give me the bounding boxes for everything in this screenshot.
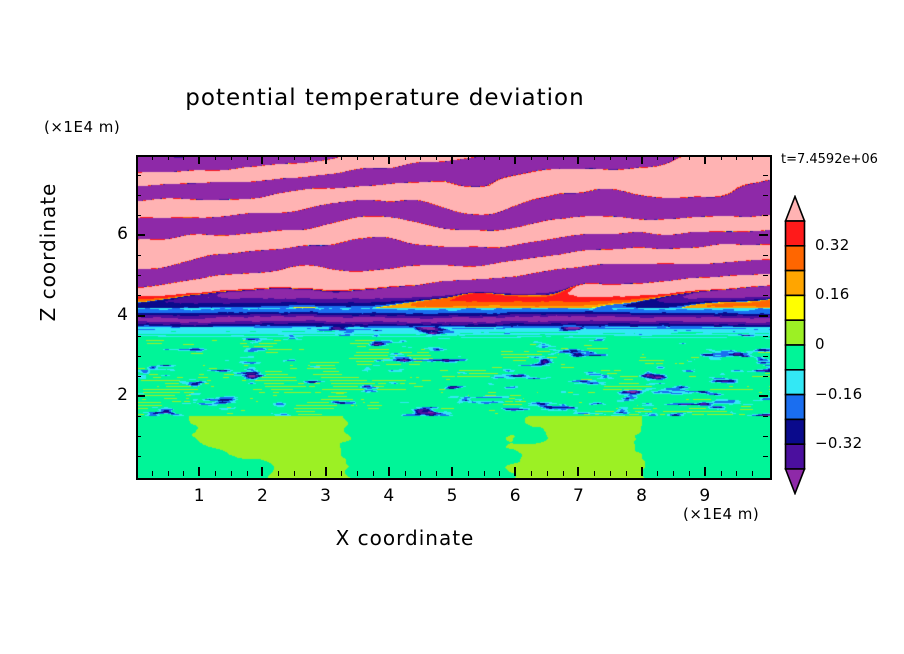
y-tick-minor bbox=[136, 376, 141, 377]
x-tick-major bbox=[198, 467, 200, 476]
x-tick-label: 4 bbox=[374, 486, 404, 506]
x-tick-major bbox=[514, 467, 516, 476]
y-tick-major-right bbox=[759, 315, 768, 317]
x-tick-minor bbox=[547, 471, 548, 476]
x-tick-major-top bbox=[704, 155, 706, 164]
x-tick-minor-top bbox=[736, 155, 737, 160]
y-tick-minor bbox=[136, 215, 141, 216]
x-tick-minor bbox=[673, 471, 674, 476]
colorbar-under-arrow bbox=[786, 469, 805, 494]
x-tick-major-top bbox=[198, 155, 200, 164]
colorbar-band bbox=[786, 444, 805, 469]
x-tick-minor-top bbox=[673, 155, 674, 160]
y-tick-label: 6 bbox=[104, 224, 128, 244]
y-tick-minor-right bbox=[763, 416, 768, 417]
x-tick-minor bbox=[657, 471, 658, 476]
x-tick-label: 6 bbox=[500, 486, 530, 506]
colorbar bbox=[784, 195, 806, 495]
y-tick-minor-right bbox=[763, 255, 768, 256]
x-tick-minor-top bbox=[436, 155, 437, 160]
colorbar-band bbox=[786, 370, 805, 395]
x-tick-major-top bbox=[261, 155, 263, 164]
y-tick-minor bbox=[136, 356, 141, 357]
x-tick-minor bbox=[626, 471, 627, 476]
x-tick-minor bbox=[152, 471, 153, 476]
x-tick-minor bbox=[215, 471, 216, 476]
y-tick-minor bbox=[136, 436, 141, 437]
contour-field-canvas bbox=[138, 157, 770, 478]
x-tick-minor-top bbox=[152, 155, 153, 160]
x-tick-minor-top bbox=[721, 155, 722, 160]
x-tick-minor-top bbox=[531, 155, 532, 160]
x-tick-minor-top bbox=[215, 155, 216, 160]
x-tick-label: 8 bbox=[627, 486, 657, 506]
colorbar-band bbox=[786, 395, 805, 420]
y-tick-major bbox=[136, 395, 145, 397]
x-tick-minor bbox=[278, 471, 279, 476]
y-tick-minor-right bbox=[763, 175, 768, 176]
colorbar-band bbox=[786, 271, 805, 296]
x-tick-major bbox=[388, 467, 390, 476]
x-tick-minor bbox=[752, 471, 753, 476]
x-tick-minor-top bbox=[610, 155, 611, 160]
y-axis-unit-label: (×1E4 m) bbox=[44, 118, 120, 136]
x-tick-major-top bbox=[325, 155, 327, 164]
colorbar-band bbox=[786, 345, 805, 370]
y-tick-major bbox=[136, 234, 145, 236]
y-tick-major-right bbox=[759, 234, 768, 236]
colorbar-band bbox=[786, 221, 805, 246]
x-tick-major bbox=[451, 467, 453, 476]
x-tick-major-top bbox=[577, 155, 579, 164]
x-tick-minor bbox=[563, 471, 564, 476]
y-tick-minor-right bbox=[763, 336, 768, 337]
x-tick-label: 2 bbox=[247, 486, 277, 506]
x-tick-minor-top bbox=[231, 155, 232, 160]
y-tick-label: 4 bbox=[104, 305, 128, 325]
x-tick-minor-top bbox=[247, 155, 248, 160]
x-tick-major-top bbox=[451, 155, 453, 164]
x-tick-minor bbox=[310, 471, 311, 476]
x-tick-minor-top bbox=[294, 155, 295, 160]
x-tick-minor-top bbox=[405, 155, 406, 160]
x-tick-minor-top bbox=[484, 155, 485, 160]
x-tick-minor bbox=[689, 471, 690, 476]
colorbar-tick-label: 0 bbox=[815, 335, 825, 353]
x-tick-minor-top bbox=[183, 155, 184, 160]
x-tick-minor bbox=[436, 471, 437, 476]
x-tick-minor bbox=[721, 471, 722, 476]
x-tick-minor-top bbox=[468, 155, 469, 160]
colorbar-tick-label: −0.32 bbox=[815, 434, 862, 452]
x-tick-label: 5 bbox=[437, 486, 467, 506]
x-tick-label: 7 bbox=[563, 486, 593, 506]
x-tick-major bbox=[704, 467, 706, 476]
y-tick-major-right bbox=[759, 395, 768, 397]
x-tick-minor bbox=[736, 471, 737, 476]
x-tick-minor-top bbox=[499, 155, 500, 160]
x-tick-major bbox=[261, 467, 263, 476]
x-tick-minor-top bbox=[752, 155, 753, 160]
x-tick-minor bbox=[247, 471, 248, 476]
y-tick-minor bbox=[136, 456, 141, 457]
y-tick-minor-right bbox=[763, 356, 768, 357]
colorbar-band bbox=[786, 295, 805, 320]
y-tick-minor-right bbox=[763, 275, 768, 276]
x-tick-major-top bbox=[514, 155, 516, 164]
x-tick-minor bbox=[294, 471, 295, 476]
y-axis-title: Z coordinate bbox=[36, 142, 60, 362]
x-tick-minor bbox=[531, 471, 532, 476]
x-tick-major bbox=[325, 467, 327, 476]
x-tick-minor-top bbox=[689, 155, 690, 160]
x-tick-minor-top bbox=[547, 155, 548, 160]
x-tick-label: 1 bbox=[184, 486, 214, 506]
y-tick-minor-right bbox=[763, 376, 768, 377]
x-tick-minor bbox=[183, 471, 184, 476]
colorbar-band bbox=[786, 419, 805, 444]
x-tick-minor bbox=[499, 471, 500, 476]
y-tick-label: 2 bbox=[104, 385, 128, 405]
y-tick-minor bbox=[136, 336, 141, 337]
y-tick-minor bbox=[136, 295, 141, 296]
x-tick-label: 9 bbox=[690, 486, 720, 506]
x-axis-title-text: X coordinate bbox=[336, 526, 475, 550]
colorbar-tick-label: −0.16 bbox=[815, 385, 862, 403]
y-tick-minor bbox=[136, 195, 141, 196]
x-tick-minor bbox=[341, 471, 342, 476]
x-tick-minor bbox=[594, 471, 595, 476]
colorbar-band bbox=[786, 320, 805, 345]
y-tick-minor-right bbox=[763, 195, 768, 196]
y-tick-minor-right bbox=[763, 436, 768, 437]
x-tick-minor-top bbox=[594, 155, 595, 160]
colorbar-over-arrow bbox=[786, 197, 805, 222]
page-title: potential temperature deviation bbox=[0, 85, 770, 111]
x-tick-major bbox=[641, 467, 643, 476]
y-tick-minor bbox=[136, 255, 141, 256]
x-tick-minor bbox=[405, 471, 406, 476]
colorbar-tick-label: 0.32 bbox=[815, 236, 850, 254]
x-tick-minor-top bbox=[341, 155, 342, 160]
x-tick-minor bbox=[420, 471, 421, 476]
colorbar-swatches bbox=[784, 195, 806, 495]
y-tick-minor-right bbox=[763, 295, 768, 296]
x-tick-minor bbox=[373, 471, 374, 476]
x-tick-major-top bbox=[388, 155, 390, 164]
x-tick-minor-top bbox=[420, 155, 421, 160]
x-tick-minor-top bbox=[168, 155, 169, 160]
x-tick-minor-top bbox=[357, 155, 358, 160]
timestamp-label: t=7.4592e+06 bbox=[781, 152, 878, 167]
y-tick-minor-right bbox=[763, 456, 768, 457]
y-tick-minor bbox=[136, 175, 141, 176]
y-tick-minor bbox=[136, 275, 141, 276]
colorbar-band bbox=[786, 246, 805, 271]
x-tick-minor-top bbox=[626, 155, 627, 160]
x-tick-minor-top bbox=[373, 155, 374, 160]
x-tick-minor bbox=[484, 471, 485, 476]
x-axis-title: X coordinate bbox=[0, 526, 904, 550]
plot-area bbox=[136, 155, 772, 480]
x-tick-minor bbox=[468, 471, 469, 476]
y-tick-minor bbox=[136, 416, 141, 417]
x-axis-unit-label: (×1E4 m) bbox=[683, 505, 759, 523]
x-tick-label: 3 bbox=[311, 486, 341, 506]
y-tick-minor-right bbox=[763, 215, 768, 216]
x-tick-minor-top bbox=[278, 155, 279, 160]
x-tick-minor bbox=[231, 471, 232, 476]
x-tick-minor-top bbox=[563, 155, 564, 160]
figure-root: potential temperature deviation (×1E4 m)… bbox=[0, 0, 904, 654]
x-tick-minor-top bbox=[310, 155, 311, 160]
y-tick-major bbox=[136, 315, 145, 317]
x-tick-minor bbox=[168, 471, 169, 476]
x-tick-minor-top bbox=[657, 155, 658, 160]
x-tick-minor bbox=[610, 471, 611, 476]
colorbar-tick-label: 0.16 bbox=[815, 285, 850, 303]
x-tick-major-top bbox=[641, 155, 643, 164]
x-tick-major bbox=[577, 467, 579, 476]
x-tick-minor bbox=[357, 471, 358, 476]
